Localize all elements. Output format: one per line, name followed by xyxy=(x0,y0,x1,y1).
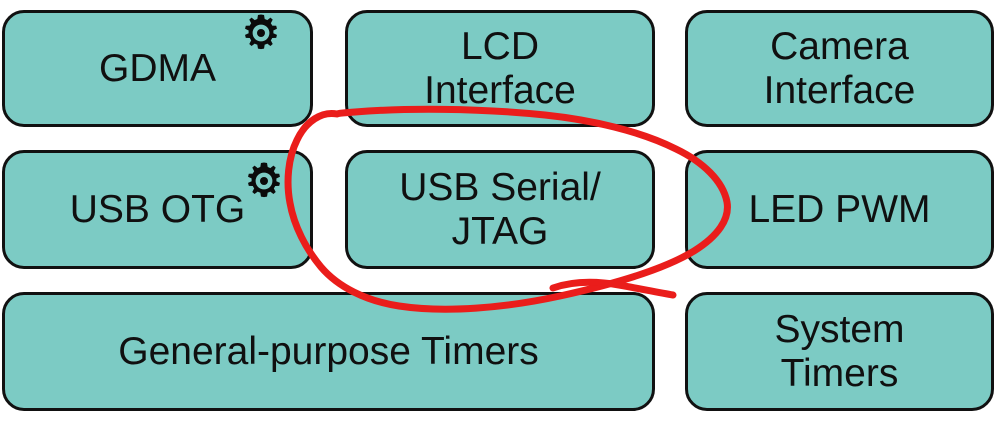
block-general-purpose-timers[interactable]: General-purpose Timers xyxy=(2,292,655,411)
block-lcd-interface-label: LCD Interface xyxy=(418,25,582,112)
block-camera-interface[interactable]: Camera Interface xyxy=(685,10,994,127)
block-usb-otg[interactable]: USB OTG xyxy=(2,150,313,269)
block-lcd-interface[interactable]: LCD Interface xyxy=(345,10,655,127)
block-led-pwm[interactable]: LED PWM xyxy=(685,150,994,269)
block-system-timers-label: System Timers xyxy=(768,308,910,395)
block-gdma-label: GDMA xyxy=(93,47,222,91)
block-camera-interface-label: Camera Interface xyxy=(758,25,922,112)
block-system-timers[interactable]: System Timers xyxy=(685,292,994,411)
block-usb-serial-jtag[interactable]: USB Serial/ JTAG xyxy=(345,150,655,269)
block-general-purpose-timers-label: General-purpose Timers xyxy=(112,330,545,374)
block-led-pwm-label: LED PWM xyxy=(742,188,936,232)
block-usb-serial-jtag-label: USB Serial/ JTAG xyxy=(393,166,607,253)
diagram-canvas: GDMA LCD Interface Camera Interface USB … xyxy=(0,0,996,423)
block-usb-otg-label: USB OTG xyxy=(64,188,252,232)
block-gdma[interactable]: GDMA xyxy=(2,10,313,127)
